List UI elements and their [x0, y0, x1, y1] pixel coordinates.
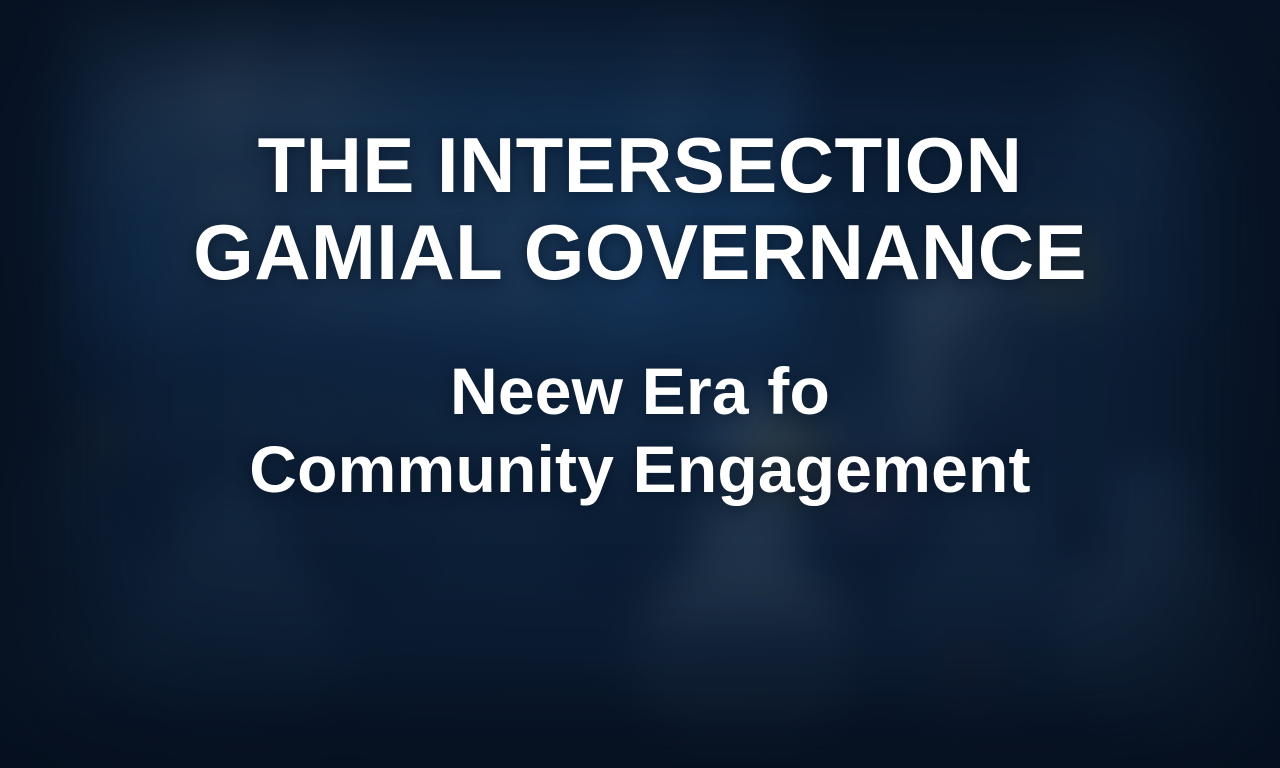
- subheadline-line-2: Community Engagement: [249, 431, 1030, 509]
- headline-line-2: GAMIAL GOVERNANCE: [193, 209, 1087, 296]
- headline-line-1: THE INTERSECTION: [193, 122, 1087, 209]
- title-text-block: THE INTERSECTION GAMIAL GOVERNANCE Neew …: [0, 0, 1280, 768]
- slide-headline: THE INTERSECTION GAMIAL GOVERNANCE: [153, 122, 1127, 297]
- title-slide: THE INTERSECTION GAMIAL GOVERNANCE Neew …: [0, 0, 1280, 768]
- subheadline-line-1: Neew Era fo: [249, 353, 1030, 431]
- slide-subheadline: Neew Era fo Community Engagement: [209, 353, 1070, 509]
